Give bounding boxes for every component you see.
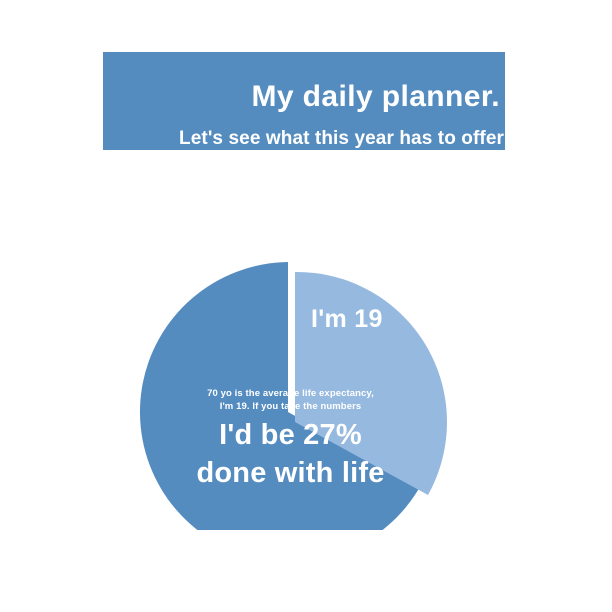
pie-headline-line-1: I'd be 27% xyxy=(148,418,433,452)
pie-label-im-19: I'm 19 xyxy=(311,305,383,334)
page-title: My daily planner. xyxy=(251,82,500,112)
pie-note-line-1: 70 yo is the average life expectancy, xyxy=(148,388,433,401)
page-subtitle: Let's see what this year has to offer xyxy=(179,129,504,148)
header-banner: My daily planner. Let's see what this ye… xyxy=(103,52,505,150)
pie-label-done-with-life: 70 yo is the average life expectancy, I'… xyxy=(148,388,433,490)
pie-headline-line-2: done with life xyxy=(148,456,433,490)
pie-note-line-2: I'm 19. If you take the numbers xyxy=(148,401,433,414)
